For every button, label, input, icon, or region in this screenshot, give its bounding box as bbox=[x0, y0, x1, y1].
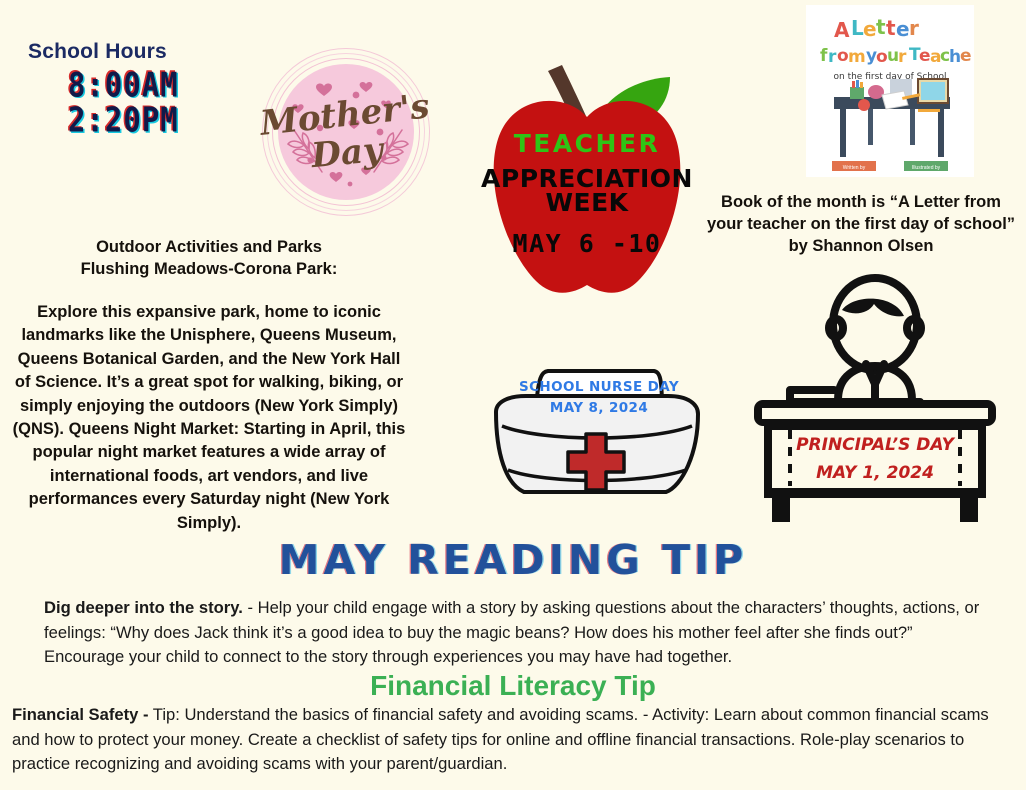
mothers-day-art: Mother's Day bbox=[262, 48, 430, 216]
principals-day-line2: MAY 1, 2024 bbox=[816, 463, 934, 483]
svg-text:f: f bbox=[820, 46, 828, 66]
dates-line: MAY 6 -10 bbox=[513, 229, 662, 258]
financial-tip-text: Tip: Understand the basics of financial … bbox=[12, 705, 989, 773]
principal-figure-icon bbox=[790, 278, 921, 402]
financial-tip-lead: Financial Safety - bbox=[12, 705, 148, 724]
reading-tip-lead: Dig deeper into the story. bbox=[44, 598, 243, 617]
svg-text:A: A bbox=[834, 18, 850, 42]
svg-text:e: e bbox=[863, 17, 877, 41]
school-start-time: 8:00AM bbox=[68, 68, 179, 103]
teacher-appreciation-apple: TEACHER APPRECIATION WEEK MAY 6 -10 bbox=[462, 55, 712, 310]
reading-tip-body: Dig deeper into the story. - Help your c… bbox=[44, 596, 990, 670]
svg-text:r: r bbox=[909, 16, 919, 40]
financial-literacy-body: Financial Safety - Tip: Understand the b… bbox=[12, 703, 1002, 777]
svg-text:e: e bbox=[896, 17, 910, 41]
mothers-day-line2: Day bbox=[309, 130, 387, 176]
nurse-day-line1: SCHOOL NURSE DAY bbox=[519, 379, 679, 395]
svg-text:Illustrated by: Illustrated by bbox=[912, 165, 941, 171]
svg-text:t: t bbox=[876, 15, 886, 39]
outdoor-heading: Outdoor Activities and Parks Flushing Me… bbox=[10, 236, 408, 281]
mothers-day-badge: Mother's Day bbox=[262, 48, 430, 216]
svg-text:o: o bbox=[876, 47, 888, 67]
school-hours-times: 8:00AM 2:20PM bbox=[68, 68, 179, 138]
reading-tip-heading: MAY READING TIP bbox=[0, 536, 1026, 584]
newsletter-page: School Hours 8:00AM 2:20PM bbox=[0, 0, 1026, 790]
book-of-the-month-caption: Book of the month is “A Letter from your… bbox=[706, 192, 1016, 257]
svg-text:r: r bbox=[828, 47, 837, 67]
school-end-time: 2:20PM bbox=[68, 103, 179, 138]
desk-icon bbox=[754, 400, 996, 522]
svg-text:e: e bbox=[960, 46, 972, 66]
svg-text:Written by: Written by bbox=[843, 165, 866, 171]
week-line: WEEK bbox=[545, 188, 629, 217]
nurse-day-line2: MAY 8, 2024 bbox=[550, 400, 648, 416]
svg-text:o: o bbox=[837, 46, 849, 66]
svg-text:m: m bbox=[848, 47, 866, 67]
school-nurse-day-cap: SCHOOL NURSE DAY MAY 8, 2024 bbox=[482, 358, 708, 524]
svg-text:r: r bbox=[898, 47, 907, 67]
financial-literacy-heading: Financial Literacy Tip bbox=[0, 670, 1026, 702]
svg-text:e: e bbox=[919, 46, 931, 66]
book-of-the-month-cover: A L e t t e r f r o m y o u r T e a c h bbox=[806, 5, 974, 177]
outdoor-heading-line2: Flushing Meadows-Corona Park: bbox=[10, 258, 408, 280]
outdoor-activities-block: Outdoor Activities and Parks Flushing Me… bbox=[10, 236, 408, 535]
outdoor-body: Explore this expansive park, home to ico… bbox=[10, 301, 408, 535]
teacher-line: TEACHER bbox=[514, 129, 661, 158]
school-hours-label: School Hours bbox=[28, 40, 179, 64]
svg-text:t: t bbox=[886, 16, 896, 40]
principals-day-desk: PRINCIPAL’S DAY MAY 1, 2024 bbox=[742, 272, 1008, 530]
school-hours-block: School Hours 8:00AM 2:20PM bbox=[28, 40, 179, 127]
outdoor-heading-line1: Outdoor Activities and Parks bbox=[10, 236, 408, 258]
principals-day-line1: PRINCIPAL’S DAY bbox=[796, 435, 956, 455]
